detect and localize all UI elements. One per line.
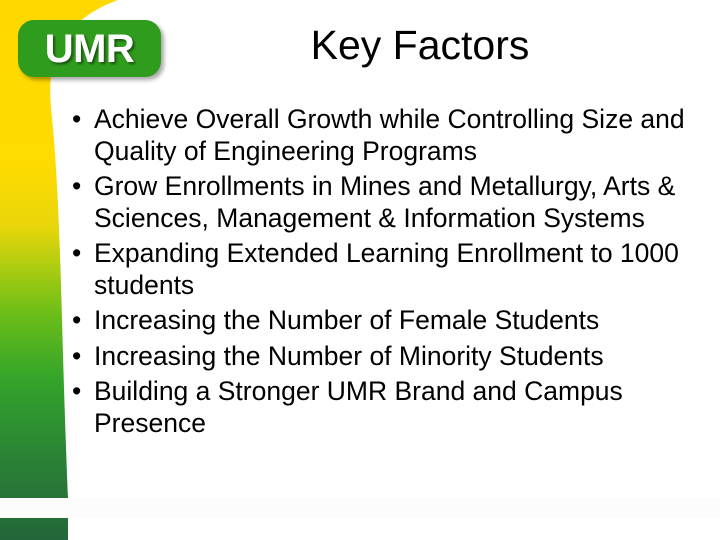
list-item-label: Grow Enrollments in Mines and Metallurgy… <box>94 171 720 234</box>
bullet-dot-icon: • <box>72 341 81 373</box>
umr-logo: UMR <box>18 20 161 77</box>
bullet-dot-icon: • <box>72 104 81 136</box>
list-item: •Expanding Extended Learning Enrollment … <box>64 238 720 301</box>
list-item-label: Increasing the Number of Minority Studen… <box>94 341 720 373</box>
list-item-label: Expanding Extended Learning Enrollment t… <box>94 238 720 301</box>
bullet-dot-icon: • <box>72 376 81 408</box>
slide-title: Key Factors <box>170 24 670 67</box>
presentation-slide: UMR Key Factors •Achieve Overall Growth … <box>0 0 720 540</box>
umr-logo-text: UMR <box>45 29 135 69</box>
bullet-list: •Achieve Overall Growth while Controllin… <box>64 104 720 443</box>
bullet-dot-icon: • <box>72 238 81 270</box>
list-item-label: Increasing the Number of Female Students <box>94 305 720 337</box>
list-item-label: Building a Stronger UMR Brand and Campus… <box>94 376 720 439</box>
list-item: •Achieve Overall Growth while Controllin… <box>64 104 720 167</box>
list-item: •Increasing the Number of Female Student… <box>64 305 720 337</box>
list-item-label: Achieve Overall Growth while Controlling… <box>94 104 720 167</box>
list-item: •Grow Enrollments in Mines and Metallurg… <box>64 171 720 234</box>
list-item: •Building a Stronger UMR Brand and Campu… <box>64 376 720 439</box>
bullet-dot-icon: • <box>72 171 81 203</box>
list-item: •Increasing the Number of Minority Stude… <box>64 341 720 373</box>
footer-band <box>0 498 720 518</box>
bullet-dot-icon: • <box>72 305 81 337</box>
